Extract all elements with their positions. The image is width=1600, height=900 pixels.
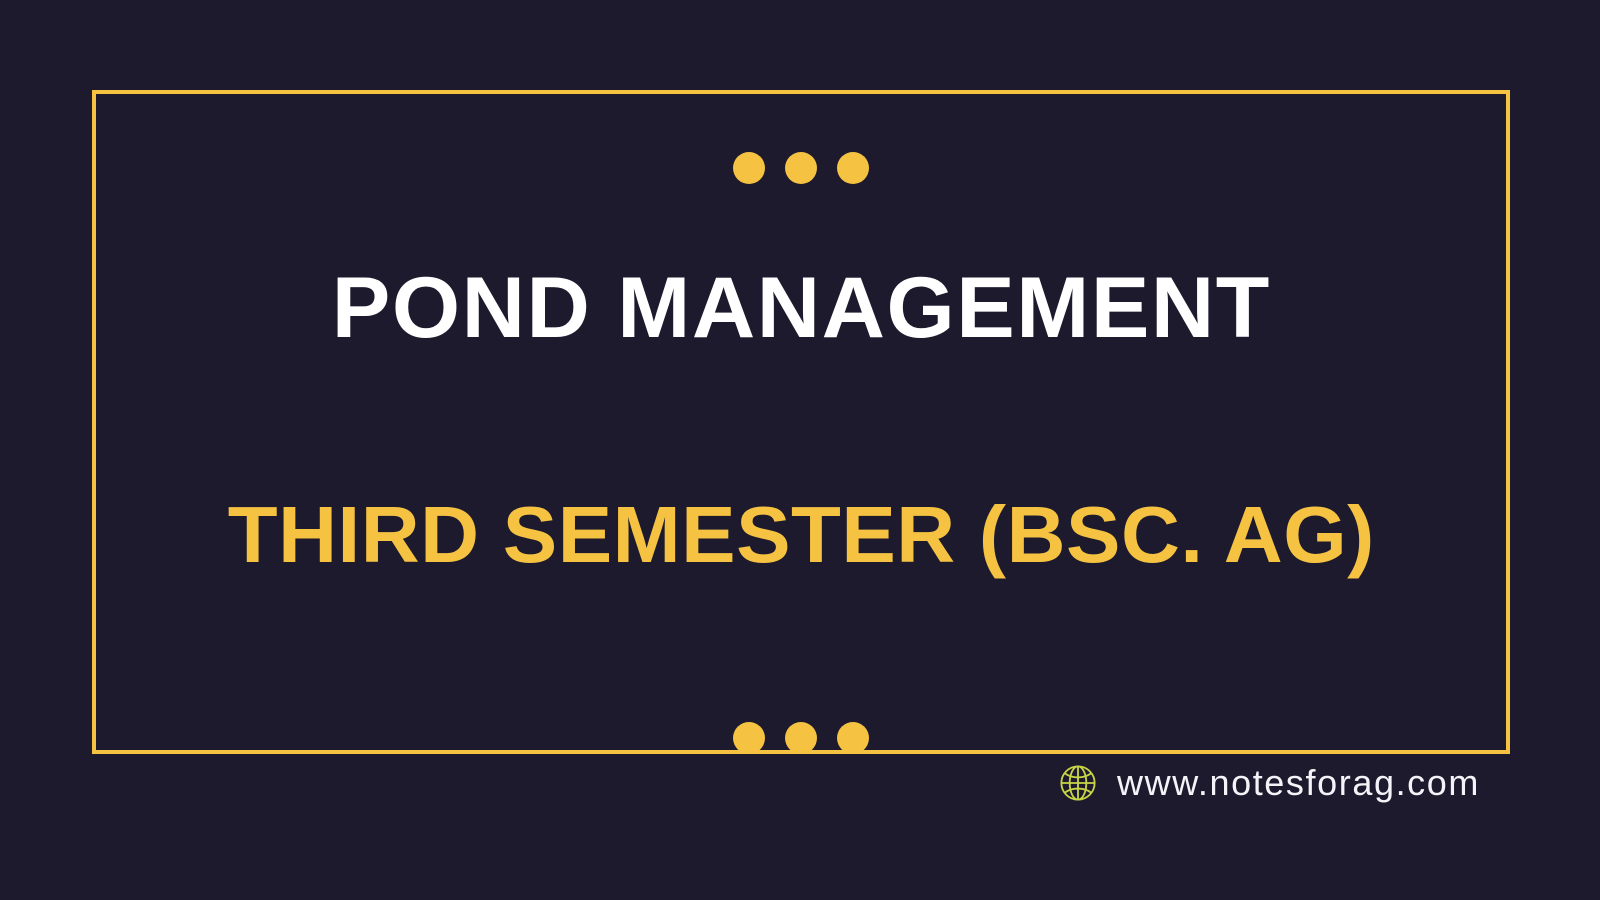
footer-website-credit: www.notesforag.com	[1057, 762, 1480, 804]
decoration-dot	[837, 152, 869, 184]
decoration-dot	[837, 722, 869, 754]
globe-icon	[1057, 762, 1099, 804]
decoration-dot	[733, 152, 765, 184]
decoration-dot	[785, 152, 817, 184]
decoration-dot	[733, 722, 765, 754]
top-dot-decoration	[733, 152, 869, 184]
headline-block: POND MANAGEMENT THIRD SEMESTER (BSC. AG)	[92, 184, 1510, 660]
website-url-text: www.notesforag.com	[1117, 762, 1480, 804]
page-title: POND MANAGEMENT	[331, 263, 1270, 353]
slide-content: POND MANAGEMENT THIRD SEMESTER (BSC. AG)	[92, 90, 1510, 754]
decoration-dot	[785, 722, 817, 754]
page-subtitle: THIRD SEMESTER (BSC. AG)	[227, 493, 1374, 577]
bottom-dot-decoration	[733, 722, 869, 754]
